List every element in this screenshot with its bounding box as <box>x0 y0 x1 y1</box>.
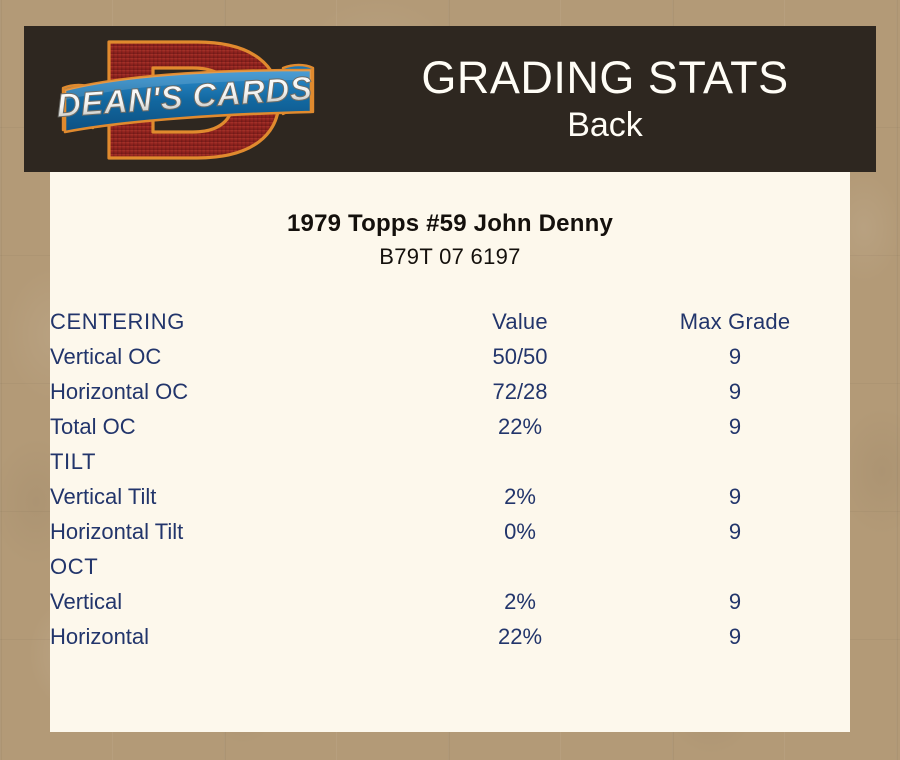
stat-label: Horizontal Tilt <box>50 514 420 549</box>
card-code: B79T 07 6197 <box>50 244 850 270</box>
stat-max-grade: 9 <box>620 339 850 374</box>
stat-label: Total OC <box>50 409 420 444</box>
stat-value: 2% <box>420 479 620 514</box>
stat-label: Vertical OC <box>50 339 420 374</box>
stat-value: 2% <box>420 584 620 619</box>
stat-value: 0% <box>420 514 620 549</box>
stat-label: Vertical <box>50 584 420 619</box>
table-row: Vertical2%9 <box>50 584 850 619</box>
card-title: 1979 Topps #59 John Denny <box>50 172 850 238</box>
stat-value: 50/50 <box>420 339 620 374</box>
table-header-row: CENTERINGValueMax Grade <box>50 304 850 339</box>
stat-max-grade: 9 <box>620 374 850 409</box>
table-row: Total OC22%9 <box>50 409 850 444</box>
column-header-value: Value <box>420 304 620 339</box>
column-header-max-grade: Max Grade <box>620 304 850 339</box>
stat-label: Horizontal <box>50 619 420 654</box>
section-row: TILT <box>50 444 850 479</box>
header-bar: DEAN'S CARDS GRADING STATS Back <box>24 26 876 172</box>
grading-stats-table: CENTERINGValueMax GradeVertical OC50/509… <box>50 304 850 654</box>
page-title: GRADING STATS <box>421 53 788 103</box>
section-row: OCT <box>50 549 850 584</box>
stat-label: Horizontal OC <box>50 374 420 409</box>
table-row: Horizontal Tilt0%9 <box>50 514 850 549</box>
section-header-centering: CENTERING <box>50 304 420 339</box>
stat-max-grade: 9 <box>620 584 850 619</box>
content-panel: 1979 Topps #59 John Denny B79T 07 6197 C… <box>50 172 850 732</box>
section-header-oct: OCT <box>50 549 850 584</box>
stat-label: Vertical Tilt <box>50 479 420 514</box>
stat-max-grade: 9 <box>620 619 850 654</box>
section-header-tilt: TILT <box>50 444 850 479</box>
deans-cards-logo[interactable]: DEAN'S CARDS <box>57 30 319 170</box>
header-title-block: GRADING STATS Back <box>334 26 876 172</box>
stat-value: 72/28 <box>420 374 620 409</box>
stat-max-grade: 9 <box>620 409 850 444</box>
page-subtitle: Back <box>567 105 643 145</box>
stat-max-grade: 9 <box>620 479 850 514</box>
table-row: Vertical Tilt2%9 <box>50 479 850 514</box>
table-row: Horizontal OC72/289 <box>50 374 850 409</box>
table-row: Horizontal22%9 <box>50 619 850 654</box>
stat-value: 22% <box>420 409 620 444</box>
stat-max-grade: 9 <box>620 514 850 549</box>
stat-value: 22% <box>420 619 620 654</box>
table-row: Vertical OC50/509 <box>50 339 850 374</box>
